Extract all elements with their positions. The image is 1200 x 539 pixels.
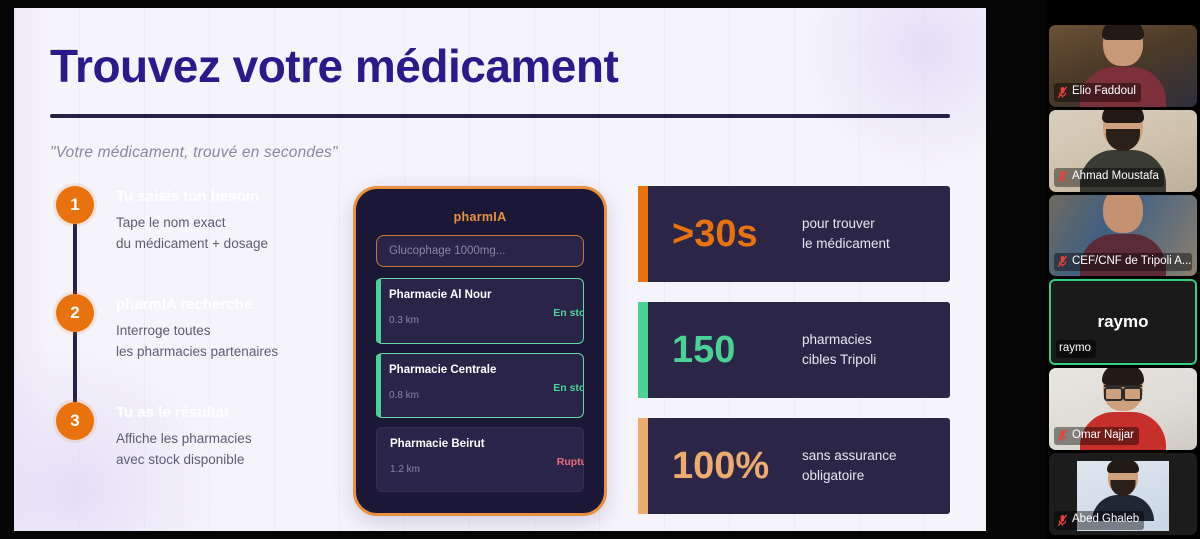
app-brand-label: pharmIA: [376, 210, 584, 224]
pharmacy-result-card[interactable]: Pharmacie Centrale 0.8 km En stock: [376, 353, 584, 418]
participant-tile-cef-cnf-tripoli[interactable]: CEF/CNF de Tripoli A...: [1049, 195, 1197, 277]
step-connector-line: [73, 332, 77, 402]
participant-tile-abed-ghaleb[interactable]: Abed Ghaleb: [1049, 453, 1197, 535]
participant-name-badge: CEF/CNF de Tripoli A...: [1054, 253, 1192, 272]
step-text-line-2: avec stock disponible: [116, 449, 252, 470]
step-body: pharmIA recherche Interroge toutes les p…: [116, 294, 278, 402]
avatar-hair: [1102, 25, 1144, 40]
participant-video-strip[interactable]: Elio Faddoul: [1046, 0, 1200, 539]
slide-subtitle: "Votre médicament, trouvé en secondes": [50, 144, 950, 162]
participant-name-badge: Omar Najjar: [1054, 427, 1139, 446]
phone-mockup-column: pharmIA Glucophage 1000mg... Pharmacie A…: [350, 186, 610, 516]
pharmacy-name: Pharmacie Centrale: [389, 364, 572, 376]
participant-name-badge: Abed Ghaleb: [1054, 511, 1144, 530]
pharmacy-stock-badge: Rupture: [557, 456, 584, 468]
medicine-search-input[interactable]: Glucophage 1000mg...: [376, 235, 584, 267]
pharmacy-stock-badge: En stock: [553, 307, 584, 319]
participant-name: raymo: [1059, 341, 1091, 357]
participant-name: Ahmad Moustafa: [1072, 169, 1159, 185]
participant-name-badge: Ahmad Moustafa: [1054, 168, 1164, 187]
avatar-beard: [1111, 480, 1136, 496]
stat-label-line-1: pour trouver: [802, 214, 890, 234]
avatar-head: [1103, 195, 1143, 234]
step-text-line-1: Affiche les pharmacies: [116, 428, 252, 449]
step-heading: Tu as le résultat: [116, 404, 252, 422]
participant-tile-ahmad-moustafa[interactable]: Ahmad Moustafa: [1049, 110, 1197, 192]
avatar-beard: [1106, 129, 1140, 151]
step-body: Tu as le résultat Affiche les pharmacies…: [116, 402, 252, 492]
pharmacy-distance: 0.8 km: [389, 390, 572, 401]
participant-name: CEF/CNF de Tripoli A...: [1072, 254, 1192, 270]
stat-label-line-1: sans assurance: [802, 446, 897, 466]
step-heading: pharmIA recherche: [116, 296, 278, 314]
participant-name: Abed Ghaleb: [1072, 512, 1139, 528]
participant-name: Omar Najjar: [1072, 428, 1134, 444]
stat-value: >30s: [672, 215, 780, 253]
step-text-line-2: les pharmacies partenaires: [116, 341, 278, 362]
pharmacy-result-card[interactable]: Pharmacie Beirut 1.2 km Rupture: [376, 427, 584, 492]
pharmacy-stock-badge: En stock: [553, 382, 584, 394]
step-connector-line: [73, 224, 77, 294]
pharmacy-distance: 1.2 km: [390, 464, 572, 475]
mic-muted-icon: [1057, 255, 1068, 268]
stat-label-line-1: pharmacies: [802, 330, 876, 350]
stat-label-line-2: le médicament: [802, 234, 890, 254]
page-title: Trouvez votre médicament: [50, 42, 950, 90]
stat-label: pour trouver le médicament: [802, 214, 890, 255]
mic-muted-icon: [1057, 429, 1068, 442]
pharmacy-name: Pharmacie Al Nour: [389, 289, 572, 301]
step-marker: 3: [56, 402, 96, 492]
mic-muted-icon: [1057, 86, 1068, 99]
step-body: Tu saisis ton besoin Tape le nom exact d…: [116, 186, 268, 294]
step-marker: 2: [56, 294, 96, 402]
participant-tile-elio-faddoul[interactable]: Elio Faddoul: [1049, 25, 1197, 107]
stat-value: 150: [672, 331, 780, 369]
eyeglasses-icon: [1104, 385, 1142, 395]
step-number-badge: 2: [56, 294, 94, 332]
phone-mockup: pharmIA Glucophage 1000mg... Pharmacie A…: [353, 186, 607, 516]
slide-content: 1 Tu saisis ton besoin Tape le nom exact…: [50, 186, 950, 516]
step-number-badge: 1: [56, 186, 94, 224]
avatar-hair: [1107, 460, 1139, 473]
search-placeholder-text: Glucophage 1000mg...: [389, 245, 505, 257]
shared-slide[interactable]: Trouvez votre médicament "Votre médicame…: [14, 8, 986, 531]
mic-muted-icon: [1057, 514, 1068, 527]
participant-tile-raymo[interactable]: raymo raymo: [1049, 279, 1197, 365]
stat-label: sans assurance obligatoire: [802, 446, 897, 487]
avatar-hair: [1102, 368, 1144, 385]
meeting-screen: Trouvez votre médicament "Votre médicame…: [0, 0, 1200, 539]
stat-label-line-2: obligatoire: [802, 466, 897, 486]
phone-screen: pharmIA Glucophage 1000mg... Pharmacie A…: [365, 198, 595, 504]
step-marker: 1: [56, 186, 96, 294]
pharmacy-result-card[interactable]: Pharmacie Al Nour 0.3 km En stock: [376, 278, 584, 343]
participant-tile-omar-najjar[interactable]: Omar Najjar: [1049, 368, 1197, 450]
step-heading: Tu saisis ton besoin: [116, 188, 268, 206]
title-divider: [50, 114, 950, 118]
stat-card: 150 pharmacies cibles Tripoli: [638, 302, 950, 398]
stats-column: >30s pour trouver le médicament 150 phar…: [610, 186, 950, 516]
pharmacy-name: Pharmacie Beirut: [390, 438, 572, 450]
step-text-line-1: Interroge toutes: [116, 320, 278, 341]
step-number-badge: 3: [56, 402, 94, 440]
stat-label: pharmacies cibles Tripoli: [802, 330, 876, 371]
participant-name-badge: raymo: [1056, 340, 1096, 359]
step-item: 2 pharmIA recherche Interroge toutes les…: [56, 294, 350, 402]
pharmacy-results-list: Pharmacie Al Nour 0.3 km En stock Pharma…: [376, 278, 584, 492]
stat-card: 100% sans assurance obligatoire: [638, 418, 950, 514]
stat-value: 100%: [672, 447, 780, 485]
pharmacy-distance: 0.3 km: [389, 315, 572, 326]
step-item: 3 Tu as le résultat Affiche les pharmaci…: [56, 402, 350, 492]
stat-label-line-2: cibles Tripoli: [802, 350, 876, 370]
step-text-line-1: Tape le nom exact: [116, 212, 268, 233]
participant-name-badge: Elio Faddoul: [1054, 83, 1141, 102]
stat-card: >30s pour trouver le médicament: [638, 186, 950, 282]
mic-muted-icon: [1057, 170, 1068, 183]
participant-name: Elio Faddoul: [1072, 84, 1136, 100]
avatar-hair: [1102, 110, 1144, 123]
step-item: 1 Tu saisis ton besoin Tape le nom exact…: [56, 186, 350, 294]
steps-list: 1 Tu saisis ton besoin Tape le nom exact…: [50, 186, 350, 516]
step-text-line-2: du médicament + dosage: [116, 233, 268, 254]
